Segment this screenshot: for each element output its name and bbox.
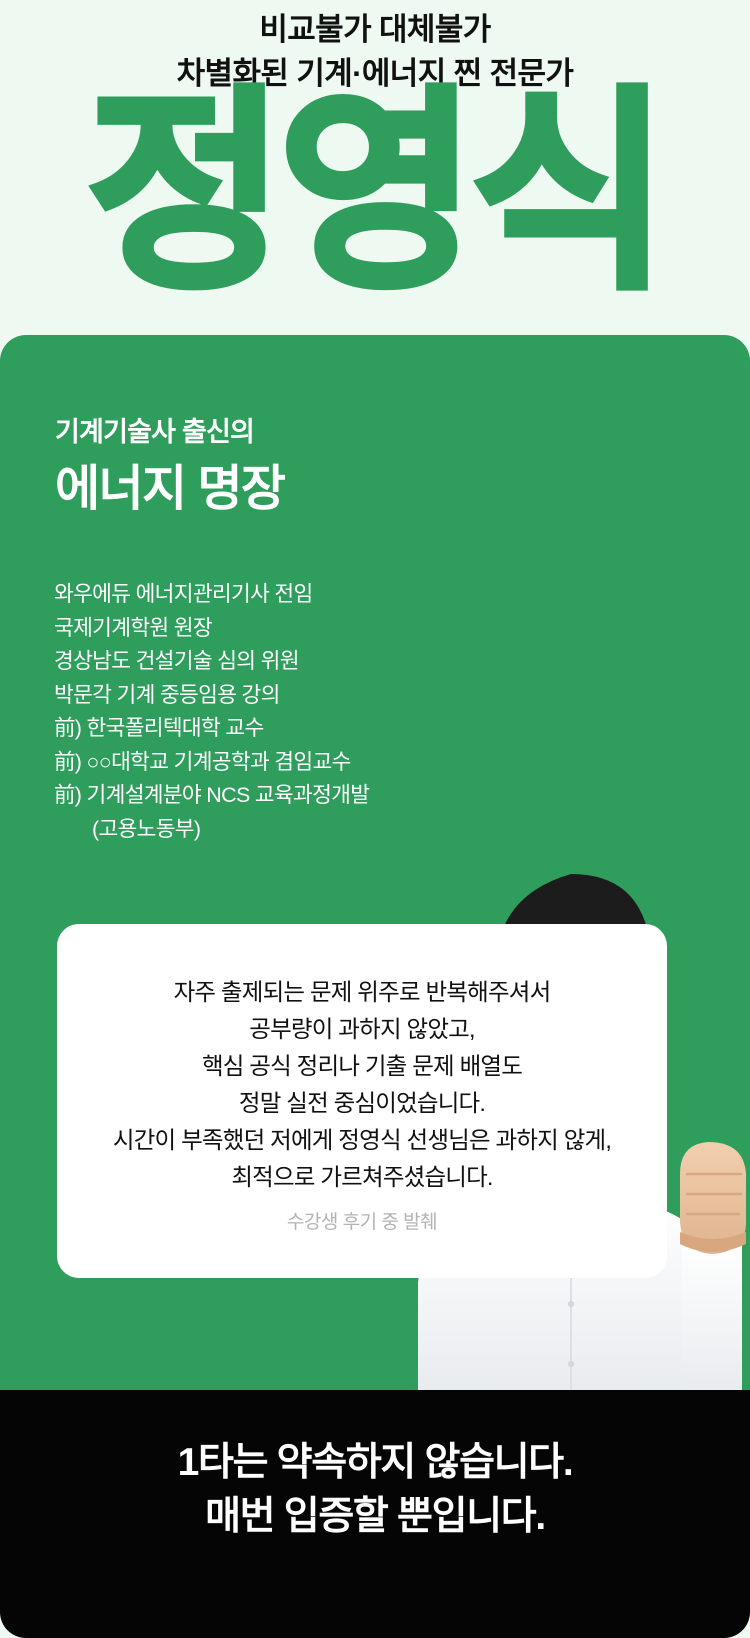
- credential-item: 前) 한국폴리텍대학 교수: [54, 712, 484, 746]
- bottom-banner: 1타는 약속하지 않습니다. 매번 입증할 뿐입니다.: [0, 1390, 750, 1638]
- profile-title: 에너지 명장: [55, 462, 284, 517]
- banner-slogan: 1타는 약속하지 않습니다. 매번 입증할 뿐입니다.: [0, 1436, 750, 1544]
- testimonial-text: 자주 출제되는 문제 위주로 반복해주셔서 공부량이 과하지 않았고, 핵심 공…: [57, 974, 667, 1196]
- testimonial-line: 시간이 부족했던 저에게 정영식 선생님은 과하지 않게,: [57, 1122, 667, 1159]
- testimonial-line: 자주 출제되는 문제 위주로 반복해주셔서: [57, 974, 667, 1011]
- testimonial-line: 공부량이 과하지 않았고,: [57, 1011, 667, 1048]
- credential-item: 국제기계학원 원장: [54, 612, 484, 646]
- testimonial-line: 정말 실전 중심이었습니다.: [57, 1085, 667, 1122]
- instructor-name-display: 정영식: [0, 88, 750, 299]
- credential-item: 와우에듀 에너지관리기사 전임: [54, 578, 484, 612]
- credential-item: 경상남도 건설기술 심의 위원: [54, 645, 484, 679]
- credential-item: 前) ○○대학교 기계공학과 겸임교수: [54, 746, 484, 780]
- testimonial-card: 자주 출제되는 문제 위주로 반복해주셔서 공부량이 과하지 않았고, 핵심 공…: [57, 924, 667, 1278]
- headline-line-1: 비교불가 대체불가: [0, 8, 750, 52]
- banner-line-1: 1타는 약속하지 않습니다.: [0, 1436, 750, 1490]
- testimonial-line: 최적으로 가르쳐주셨습니다.: [57, 1159, 667, 1196]
- credential-item: 前) 기계설계분야 NCS 교육과정개발: [54, 779, 484, 813]
- profile-subtitle: 기계기술사 출신의: [55, 410, 254, 449]
- testimonial-source: 수강생 후기 중 발췌: [57, 1207, 667, 1234]
- credential-item: (고용노동부): [54, 813, 484, 847]
- promo-page: 비교불가 대체불가 차별화된 기계·에너지 찐 전문가 정영식: [0, 0, 750, 1638]
- testimonial-line: 핵심 공식 정리나 기출 문제 배열도: [57, 1048, 667, 1085]
- credentials-list: 와우에듀 에너지관리기사 전임 국제기계학원 원장 경상남도 건설기술 심의 위…: [54, 578, 484, 846]
- banner-line-2: 매번 입증할 뿐입니다.: [0, 1490, 750, 1544]
- credential-item: 박문각 기계 중등임용 강의: [54, 679, 484, 713]
